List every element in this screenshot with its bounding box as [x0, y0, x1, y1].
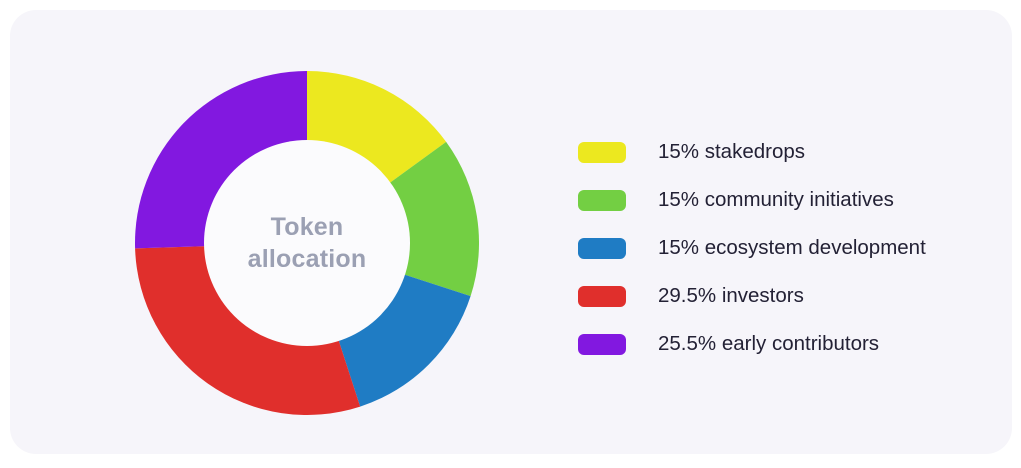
legend-swatch-icon — [578, 238, 626, 259]
legend-swatch-icon — [578, 142, 626, 163]
donut-hole — [204, 140, 410, 346]
legend-item-community-initiatives[interactable]: 15% community initiatives — [578, 176, 978, 224]
page-root: Token allocation 15% stakedrops 15% comm… — [0, 0, 1021, 468]
legend-item-label: 15% community initiatives — [658, 190, 894, 211]
legend-item-investors[interactable]: 29.5% investors — [578, 272, 978, 320]
legend-item-early-contributors[interactable]: 25.5% early contributors — [578, 320, 978, 368]
legend-item-label: 29.5% investors — [658, 286, 804, 307]
legend-item-stakedrops[interactable]: 15% stakedrops — [578, 128, 978, 176]
legend-swatch-icon — [578, 190, 626, 211]
legend-item-label: 15% ecosystem development — [658, 238, 926, 259]
chart-card: Token allocation 15% stakedrops 15% comm… — [10, 10, 1012, 454]
legend-swatch-icon — [578, 334, 626, 355]
donut-chart-svg — [135, 71, 479, 415]
chart-legend: 15% stakedrops 15% community initiatives… — [578, 128, 978, 368]
legend-item-label: 25.5% early contributors — [658, 334, 879, 355]
legend-swatch-icon — [578, 286, 626, 307]
legend-item-ecosystem-development[interactable]: 15% ecosystem development — [578, 224, 978, 272]
donut-chart: Token allocation — [135, 71, 479, 415]
legend-item-label: 15% stakedrops — [658, 142, 805, 163]
